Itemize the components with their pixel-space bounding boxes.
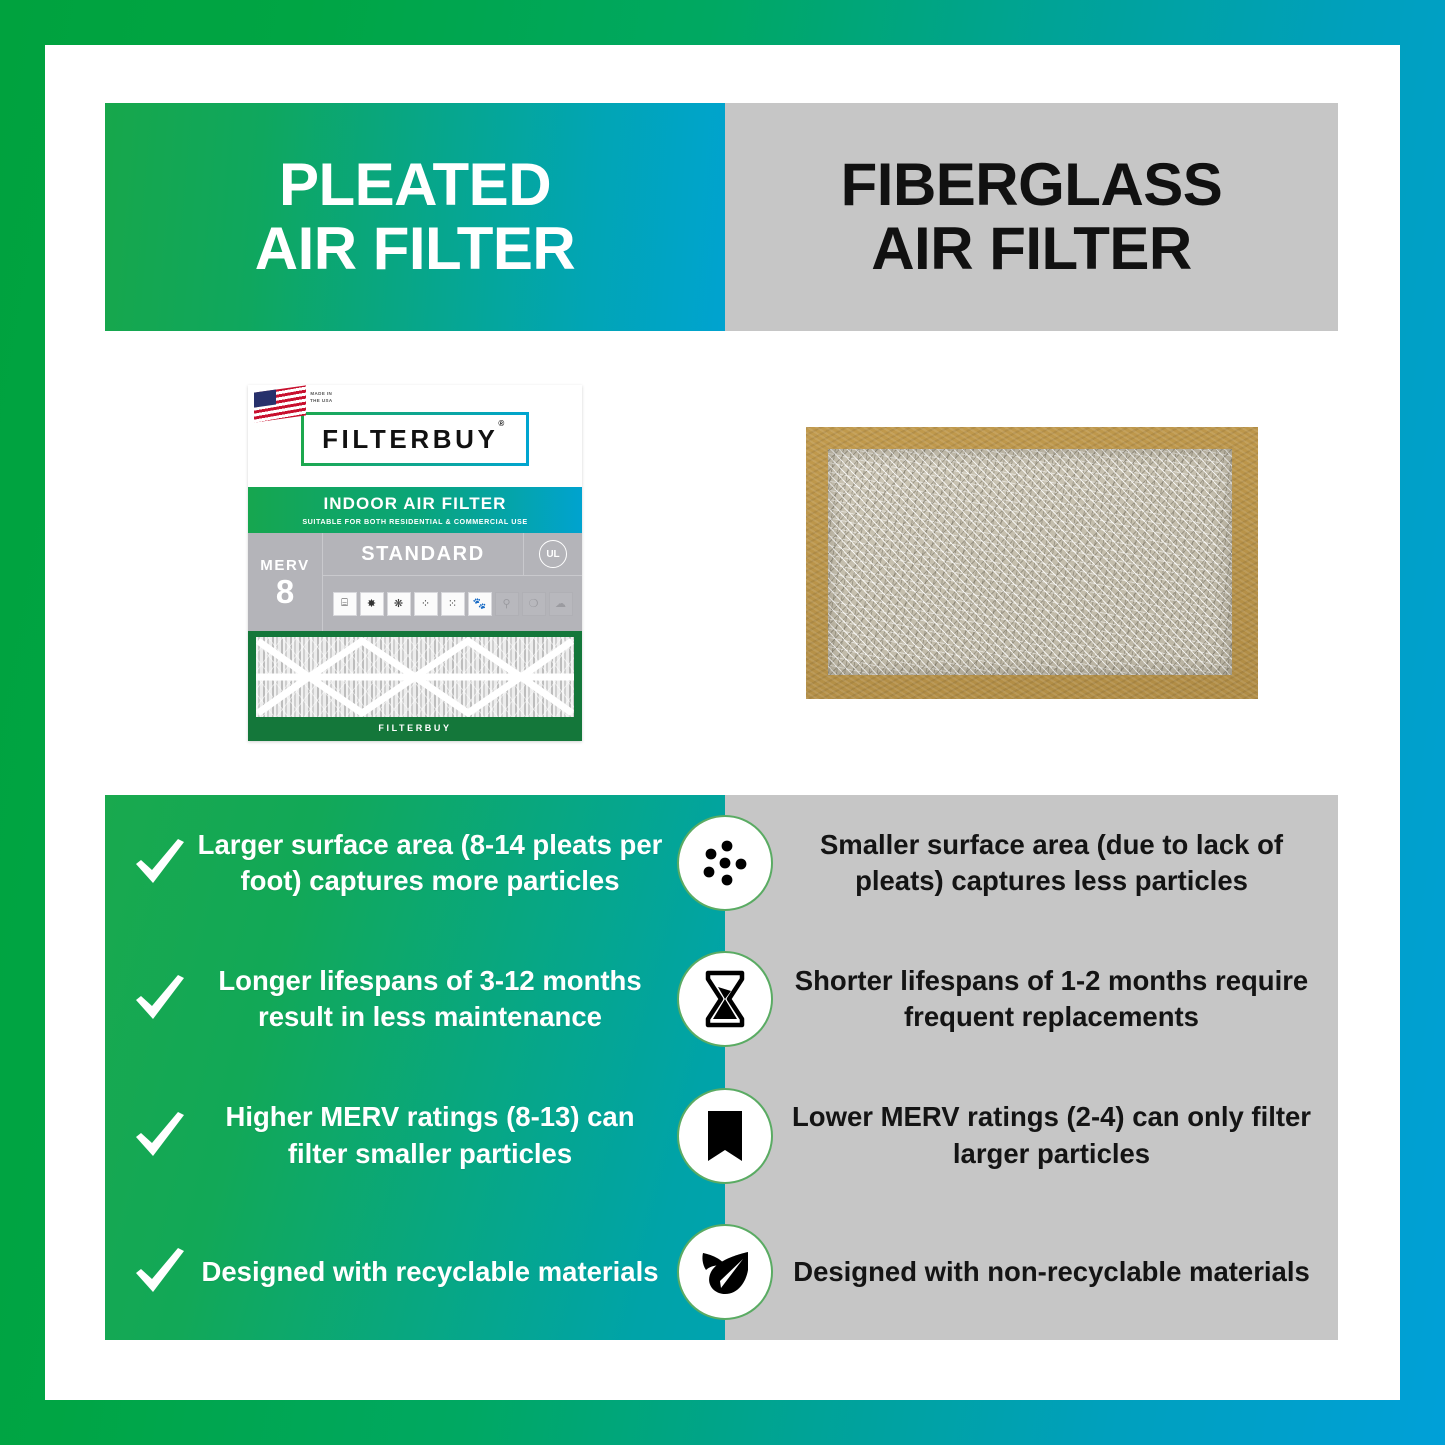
comparison-row-left: Longer lifespans of 3-12 months result i… xyxy=(105,963,725,1036)
merv-label: MERV xyxy=(260,557,309,574)
filterbuy-logo: FILTERBUY® xyxy=(322,424,508,455)
ul-certification-icon: UL xyxy=(539,540,567,568)
checkmark-icon xyxy=(123,1110,197,1162)
checkmark-icon xyxy=(123,973,197,1025)
merv-value: 8 xyxy=(276,575,294,608)
pollen-icon: ✸ xyxy=(360,592,384,616)
comparison-text-right: Designed with non-recyclable materials xyxy=(785,1254,1318,1291)
grade-label: STANDARD xyxy=(323,533,523,575)
mold-icon: ❋ xyxy=(387,592,411,616)
comparison-row: Larger surface area (8-14 pleats per foo… xyxy=(105,795,1338,931)
comparison-text-left: Designed with recyclable materials xyxy=(197,1254,725,1291)
leaf-icon xyxy=(677,1224,773,1320)
infographic-canvas: PLEATED AIR FILTER FIBERGLASS AIR FILTER… xyxy=(45,45,1400,1400)
comparison-text-right: Smaller surface area (due to lack of ple… xyxy=(785,827,1318,900)
header-title-fiberglass: FIBERGLASS AIR FILTER xyxy=(841,153,1223,280)
dust-lint-icon: ⌸ xyxy=(333,592,357,616)
comparison-row: Longer lifespans of 3-12 months result i… xyxy=(105,931,1338,1067)
comparison-row-right: Lower MERV ratings (2-4) can only filter… xyxy=(725,1099,1338,1172)
spec-right-column: STANDARD UL ⌸ ✸ ❋ ⁘ ⁙ xyxy=(323,533,582,631)
fiberglass-media-texture xyxy=(828,449,1232,675)
comparison-section: Larger surface area (8-14 pleats per foo… xyxy=(105,795,1338,1340)
product-cell-fiberglass xyxy=(725,331,1338,795)
header-title-pleated: PLEATED AIR FILTER xyxy=(255,153,576,280)
product-cell-pleated: MADE IN THE USA FILTERBUY® INDOOR AIR FI… xyxy=(105,331,725,795)
comparison-row: Designed with recyclable materials Desig… xyxy=(105,1204,1338,1340)
filter-box-spec-area: MERV 8 STANDARD UL ⌸ xyxy=(248,533,582,631)
product-image-row: MADE IN THE USA FILTERBUY® INDOOR AIR FI… xyxy=(105,331,1338,795)
band-main-label: INDOOR AIR FILTER xyxy=(323,494,506,514)
check-glyph xyxy=(132,973,188,1025)
band-sub-label: SUITABLE FOR BOTH RESIDENTIAL & COMMERCI… xyxy=(302,517,527,526)
hourglass-glyph xyxy=(698,969,752,1029)
comparison-text-left: Larger surface area (8-14 pleats per foo… xyxy=(197,827,725,900)
particles-glyph xyxy=(696,834,754,892)
header-panel-fiberglass: FIBERGLASS AIR FILTER xyxy=(725,103,1338,331)
infographic-root: PLEATED AIR FILTER FIBERGLASS AIR FILTER… xyxy=(0,0,1445,1445)
ul-listed-block: UL xyxy=(523,533,582,575)
pleated-media-area: FILTERBUY xyxy=(248,631,582,741)
comparison-text-left: Longer lifespans of 3-12 months result i… xyxy=(197,963,725,1036)
capability-icon-strip: ⌸ ✸ ❋ ⁘ ⁙ 🐾 ⚲ ❍ ☁ xyxy=(323,576,582,631)
header-panel-pleated: PLEATED AIR FILTER xyxy=(105,103,725,331)
pleat-media-texture xyxy=(256,637,574,717)
wire-support-grid-icon xyxy=(256,637,574,717)
check-glyph xyxy=(132,837,188,889)
checkmark-icon xyxy=(123,1246,197,1298)
comparison-row-right: Smaller surface area (due to lack of ple… xyxy=(725,827,1338,900)
comparison-row-left: Larger surface area (8-14 pleats per foo… xyxy=(105,827,725,900)
smoke-icon: ⁙ xyxy=(441,592,465,616)
comparison-row-right: Designed with non-recyclable materials xyxy=(725,1254,1338,1291)
bacteria-icon: ⚲ xyxy=(495,592,519,616)
made-in-usa-label: MADE IN THE USA xyxy=(310,391,333,405)
bookmark-icon xyxy=(677,1088,773,1184)
hourglass-icon xyxy=(677,951,773,1047)
comparison-text-left: Higher MERV ratings (8-13) can filter sm… xyxy=(197,1099,725,1172)
comparison-row-right: Shorter lifespans of 1-2 months require … xyxy=(725,963,1338,1036)
virus-icon: ❍ xyxy=(522,592,546,616)
filter-footer-brand: FILTERBUY xyxy=(256,723,574,733)
check-glyph xyxy=(132,1110,188,1162)
header-row: PLEATED AIR FILTER FIBERGLASS AIR FILTER xyxy=(105,103,1338,331)
pleated-filter-product-image: MADE IN THE USA FILTERBUY® INDOOR AIR FI… xyxy=(248,385,582,741)
filter-box-band: INDOOR AIR FILTER SUITABLE FOR BOTH RESI… xyxy=(248,487,582,533)
trademark-symbol: ® xyxy=(498,419,508,428)
grade-row: STANDARD UL xyxy=(323,533,582,576)
comparison-row-left: Higher MERV ratings (8-13) can filter sm… xyxy=(105,1099,725,1172)
comparison-row: Higher MERV ratings (8-13) can filter sm… xyxy=(105,1068,1338,1204)
comparison-rows: Larger surface area (8-14 pleats per foo… xyxy=(105,795,1338,1340)
smog-icon: ☁ xyxy=(549,592,573,616)
comparison-text-right: Lower MERV ratings (2-4) can only filter… xyxy=(785,1099,1318,1172)
merv-block: MERV 8 xyxy=(248,533,323,631)
bookmark-glyph xyxy=(700,1107,750,1165)
particles-icon xyxy=(677,815,773,911)
comparison-row-left: Designed with recyclable materials xyxy=(105,1246,725,1298)
filterbuy-logo-frame: FILTERBUY® xyxy=(301,412,529,466)
pet-dander-icon: 🐾 xyxy=(468,592,492,616)
dust-mite-icon: ⁘ xyxy=(414,592,438,616)
fiberglass-filter-product-image xyxy=(806,427,1258,699)
checkmark-icon xyxy=(123,837,197,889)
leaf-glyph xyxy=(696,1244,754,1300)
filterbuy-logo-text: FILTERBUY xyxy=(322,424,498,454)
usa-flag-icon xyxy=(254,385,306,422)
check-glyph xyxy=(132,1246,188,1298)
comparison-text-right: Shorter lifespans of 1-2 months require … xyxy=(785,963,1318,1036)
filter-box-top: MADE IN THE USA FILTERBUY® xyxy=(248,385,582,487)
